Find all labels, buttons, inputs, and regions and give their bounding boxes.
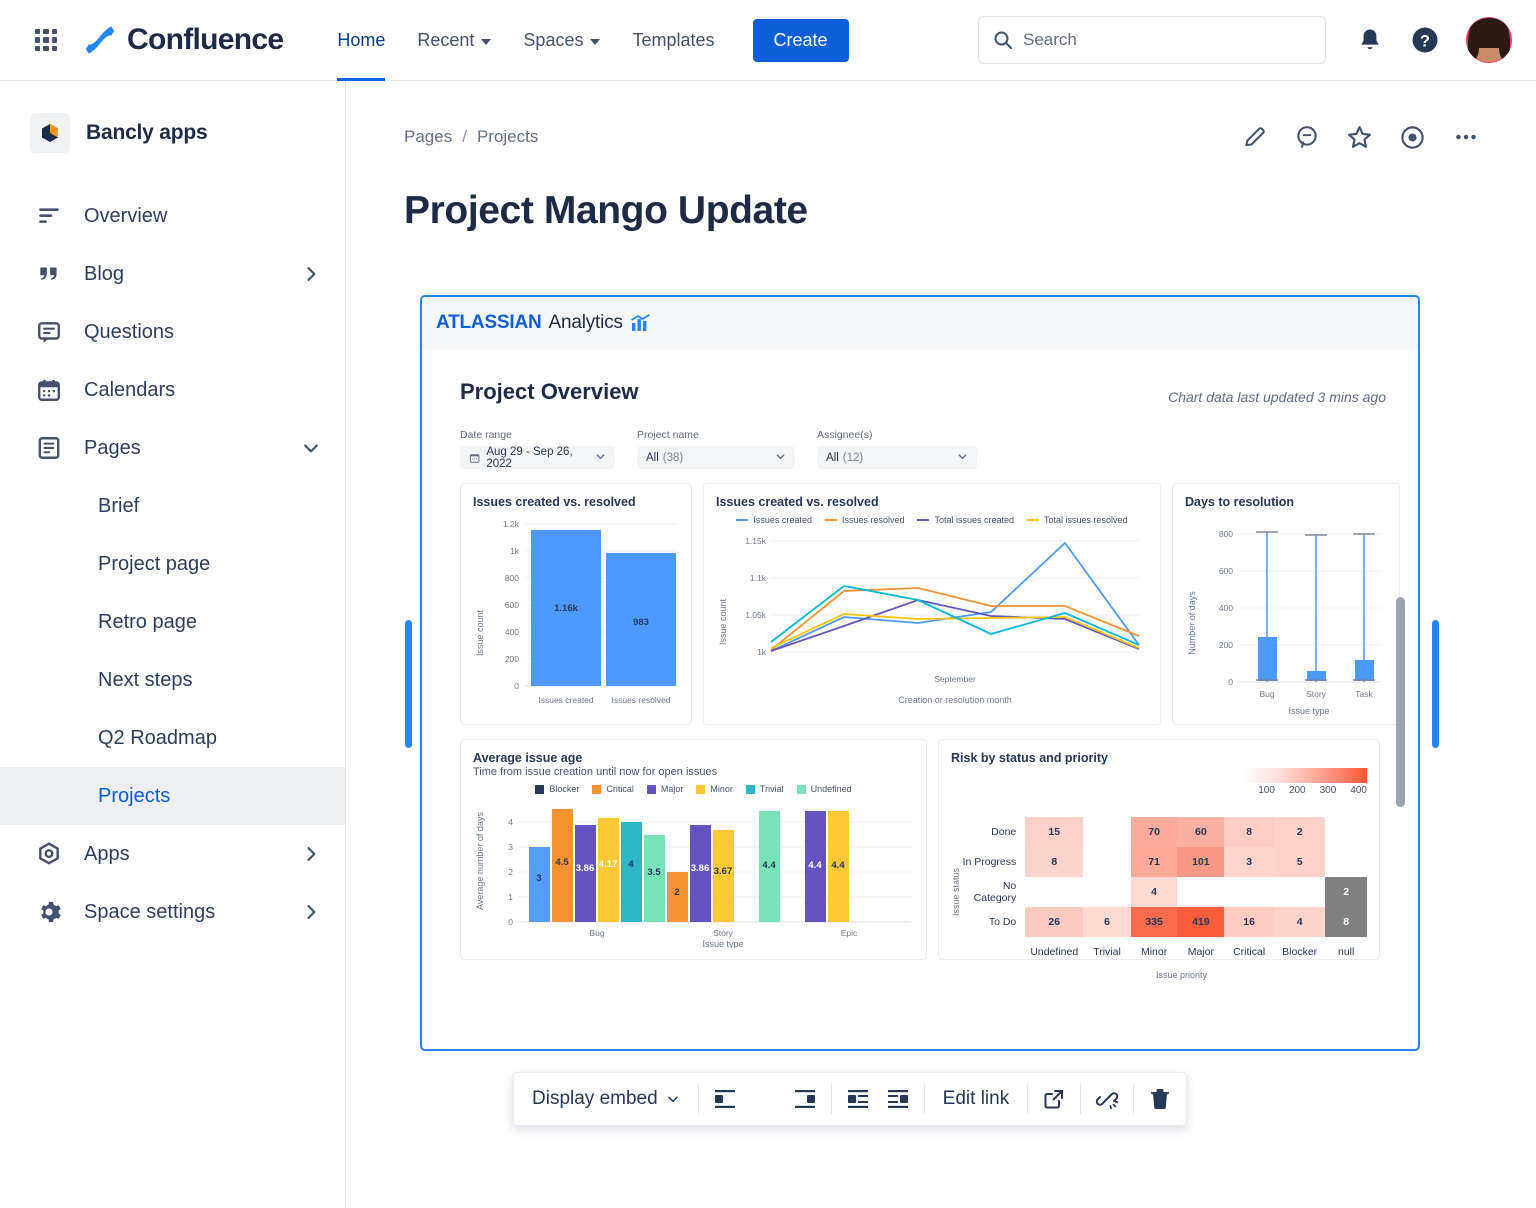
heatmap-cell[interactable] <box>1274 877 1325 907</box>
heatmap-cell-null[interactable]: 2 <box>1325 877 1367 907</box>
heatmap-cell[interactable]: 60 <box>1177 817 1224 847</box>
heatmap-cell[interactable]: 8 <box>1025 847 1083 877</box>
bar-chart-svg: Issue count 1.2k 1k 800 600 400 200 0 <box>473 513 681 723</box>
svg-text:3.86: 3.86 <box>576 863 595 874</box>
legend-tick: 200 <box>1289 785 1306 796</box>
legend-item: Minor <box>696 784 733 794</box>
legend-tick: 100 <box>1258 785 1275 796</box>
legend-label: Major <box>661 784 684 794</box>
row-label: Done <box>961 817 1025 847</box>
legend-tick: 400 <box>1350 785 1367 796</box>
heatmap-cell[interactable]: 419 <box>1177 907 1224 937</box>
sidebar-item-apps[interactable]: Apps <box>0 825 345 883</box>
chevron-down-icon <box>775 451 786 465</box>
bar-value-label: 1.16k <box>554 603 578 614</box>
nav-label: Templates <box>632 30 714 51</box>
sidebar-subitem-label: Brief <box>98 495 139 518</box>
space-name: Bancly apps <box>86 121 208 145</box>
svg-text:1k: 1k <box>757 647 767 657</box>
assignees-value: All <box>826 452 839 464</box>
y-ticks: 1.2k 1k 800 600 400 200 0 <box>503 519 520 691</box>
watch-icon[interactable] <box>1399 124 1426 151</box>
row-label: No Category <box>961 877 1025 907</box>
sidebar-item-calendars[interactable]: Calendars <box>0 361 345 419</box>
sidebar-item-space-settings[interactable]: Space settings <box>0 883 345 941</box>
chart-title: Issues created vs. resolved <box>473 495 679 509</box>
legend-item: Issues resolved <box>825 515 905 525</box>
chart-card-average-issue-age[interactable]: Average issue age Time from issue creati… <box>460 739 927 960</box>
sidebar-subitem-projects[interactable]: Projects <box>0 767 345 825</box>
row-label: In Progress <box>961 847 1025 877</box>
svg-text:4.4: 4.4 <box>831 860 845 871</box>
chevron-right-icon[interactable] <box>301 902 321 922</box>
chart-card-risk-heatmap[interactable]: Risk by status and priority 100 200 300 … <box>938 739 1380 960</box>
legend-label: Issues resolved <box>842 515 905 525</box>
heatmap-cell[interactable]: 8 <box>1224 817 1274 847</box>
more-options-icon[interactable] <box>1452 123 1480 151</box>
heatmap-cell[interactable]: 5 <box>1274 847 1325 877</box>
legend-label: Trivial <box>760 784 784 794</box>
legend-label: Issues created <box>753 515 812 525</box>
overview-icon <box>36 203 62 229</box>
chevron-right-icon[interactable] <box>301 264 321 284</box>
app-switcher-icon[interactable] <box>30 24 62 56</box>
heatmap-cell[interactable]: 70 <box>1131 817 1178 847</box>
legend-item: Total issues created <box>917 515 1014 525</box>
comment-icon <box>36 319 62 345</box>
create-button[interactable]: Create <box>753 19 849 62</box>
line-series <box>771 543 1139 651</box>
legend-label: Total issues created <box>934 515 1014 525</box>
display-embed-label: Display embed <box>532 1088 658 1110</box>
breadcrumb: Pages / Projects <box>346 81 1536 151</box>
analytics-wordmark: Analytics <box>549 312 623 334</box>
filter-assignees: Assignee(s) All (12) <box>817 429 977 469</box>
chevron-down-icon[interactable] <box>301 438 321 458</box>
x-tick-label: Issues created <box>538 695 594 705</box>
avatar[interactable] <box>1466 17 1512 63</box>
filter-label: Date range <box>460 429 615 441</box>
space-sidebar: Bancly apps Overview Blog <box>0 81 346 1208</box>
chart-title: Average issue age <box>473 751 914 765</box>
atlassian-wordmark: ATLASSIAN <box>436 312 542 334</box>
column-label: Trivial <box>1083 937 1130 967</box>
project-name-select[interactable]: All (38) <box>637 446 795 469</box>
chevron-down-icon <box>666 1092 680 1106</box>
sidebar-nav-list: Overview Blog Questions <box>0 187 345 941</box>
svg-text:800: 800 <box>1219 529 1233 539</box>
heatmap-cell[interactable] <box>1025 877 1083 907</box>
heatmap-cell[interactable]: 2 <box>1274 817 1325 847</box>
sidebar-item-pages[interactable]: Pages <box>0 419 345 477</box>
date-range-select[interactable]: Aug 29 - Sep 26, 2022 <box>460 446 615 469</box>
edit-icon[interactable] <box>1242 124 1268 150</box>
legend-item: Trivial <box>746 784 784 794</box>
column-label: Undefined <box>1025 937 1083 967</box>
heatmap-cell[interactable]: 71 <box>1131 847 1178 877</box>
page-title: Project Mango Update <box>346 151 1536 233</box>
svg-text:4.4: 4.4 <box>762 860 776 871</box>
svg-text:200: 200 <box>505 654 519 664</box>
last-updated-text: Chart data last updated 3 mins ago <box>1168 389 1386 405</box>
chevron-right-icon[interactable] <box>301 844 321 864</box>
wrap-right-button[interactable] <box>878 1079 918 1119</box>
filter-project-name: Project name All (38) <box>637 429 795 469</box>
x-tick-label: Story <box>1306 689 1327 699</box>
edit-link-button[interactable]: Edit link <box>931 1079 1022 1119</box>
confluence-brand[interactable]: Confluence <box>84 23 283 57</box>
breadcrumb-parent[interactable]: Pages <box>404 127 452 147</box>
svg-text:4: 4 <box>508 817 513 827</box>
apps-icon <box>36 841 62 867</box>
notifications-icon[interactable] <box>1356 26 1384 54</box>
align-left-button[interactable] <box>705 1079 745 1119</box>
table-row: To Do 26 6 335 419 16 4 8 <box>961 907 1367 937</box>
nav-label: Spaces <box>523 30 583 51</box>
filter-date-range: Date range Aug 29 - Sep 26, 2022 <box>460 429 615 469</box>
column-label: Minor <box>1131 937 1178 967</box>
heatmap-cell[interactable] <box>1224 877 1274 907</box>
svg-text:0: 0 <box>514 681 519 691</box>
chart-title: Days to resolution <box>1185 495 1387 509</box>
heatmap-cell[interactable]: 4 <box>1274 907 1325 937</box>
sidebar-item-overview[interactable]: Overview <box>0 187 345 245</box>
heatmap-cell[interactable] <box>1083 817 1130 847</box>
table-row: In Progress 8 71 101 3 5 <box>961 847 1367 877</box>
svg-text:3.86: 3.86 <box>691 863 710 874</box>
chart-row-bottom: Average issue age Time from issue creati… <box>432 725 1408 960</box>
chart-card-issues-line[interactable]: Issues created vs. resolved Issues creat… <box>703 483 1161 725</box>
embed-scrollbar[interactable] <box>1396 597 1405 807</box>
search-input[interactable] <box>978 16 1326 64</box>
heatmap-cell[interactable] <box>1325 847 1367 877</box>
sidebar-subitem-next-steps[interactable]: Next steps <box>0 651 345 709</box>
svg-text:?: ? <box>1420 32 1430 50</box>
analytics-chart-icon <box>630 314 652 332</box>
sidebar-item-label: Questions <box>84 321 174 344</box>
svg-text:200: 200 <box>1219 640 1233 650</box>
heatmap-gradient <box>1244 768 1367 783</box>
boxplot-svg: Number of days 800 600 400 200 0 <box>1185 513 1389 719</box>
nav-item-templates[interactable]: Templates <box>618 0 728 81</box>
heatmap-cell[interactable]: 26 <box>1025 907 1083 937</box>
column-label: Major <box>1177 937 1224 967</box>
x-tick-label: Epic <box>841 928 858 938</box>
x-tick-label: September <box>934 674 976 684</box>
svg-text:4: 4 <box>628 859 634 870</box>
heatmap-y-axis-label: Issue status <box>951 827 961 957</box>
gridlines <box>1237 534 1381 645</box>
pages-icon <box>36 435 62 461</box>
filter-bar: Date range Aug 29 - Sep 26, 2022 Project… <box>432 405 1408 469</box>
legend-item: Critical <box>592 784 634 794</box>
line-chart-svg: Issue count 1.15k 1.1k 1.05k 1k <box>716 527 1150 709</box>
chart-card-issues-bar[interactable]: Issues created vs. resolved Issue count … <box>460 483 692 725</box>
calendar-icon <box>469 452 480 464</box>
heatmap-cell[interactable]: 335 <box>1131 907 1178 937</box>
filter-label: Project name <box>637 429 795 441</box>
heatmap-cell-null[interactable]: 8 <box>1325 907 1367 937</box>
sidebar-subitem-label: Projects <box>98 785 170 808</box>
legend-label: Undefined <box>811 784 852 794</box>
star-icon[interactable] <box>1346 124 1373 151</box>
breadcrumb-separator: / <box>462 127 467 147</box>
bar-chart-legend: Blocker Critical Major Minor Trivial Und… <box>473 784 914 794</box>
svg-text:0: 0 <box>508 917 513 927</box>
embed-toolbar: Display embed Edit link <box>513 1072 1187 1126</box>
legend-item: Total issues resolved <box>1027 515 1128 525</box>
heatmap-cell[interactable] <box>1325 817 1367 847</box>
sidebar-subitem-label: Project page <box>98 553 210 576</box>
analytics-embed[interactable]: ATLASSIAN Analytics Project Overview Cha… <box>420 295 1420 1051</box>
bar-value-label: 983 <box>633 617 649 628</box>
y-axis-label: Issue count <box>718 598 728 645</box>
x-axis-label: Issue type <box>1288 706 1329 716</box>
toolbar-divider <box>698 1084 699 1114</box>
svg-text:600: 600 <box>505 600 519 610</box>
heatmap-cell[interactable]: 101 <box>1177 847 1224 877</box>
chevron-down-icon <box>595 451 606 465</box>
x-axis-label: Creation or resolution month <box>898 695 1012 705</box>
x-tick-label: Task <box>1355 689 1373 699</box>
svg-text:1k: 1k <box>510 546 520 556</box>
legend-label: Minor <box>710 784 733 794</box>
sidebar-item-label: Apps <box>84 843 130 866</box>
chart-card-days-resolution[interactable]: Days to resolution Number of days 800 60… <box>1172 483 1400 725</box>
heatmap-cell[interactable] <box>1177 877 1224 907</box>
space-header[interactable]: Bancly apps <box>0 105 345 161</box>
filter-label: Assignee(s) <box>817 429 977 441</box>
sidebar-item-label: Space settings <box>84 901 215 924</box>
svg-text:2: 2 <box>674 887 679 898</box>
y-axis-label: Number of days <box>1187 591 1197 655</box>
dashboard-title: Project Overview <box>460 379 639 405</box>
confluence-logo-icon <box>84 25 116 55</box>
heatmap-cell[interactable] <box>1083 877 1130 907</box>
legend-item: Major <box>647 784 684 794</box>
nav-item-spaces[interactable]: Spaces <box>509 0 614 81</box>
column-label: null <box>1325 937 1367 967</box>
unlink-icon[interactable] <box>1087 1079 1127 1119</box>
table-row: Done 15 70 60 8 2 <box>961 817 1367 847</box>
sidebar-item-label: Blog <box>84 263 124 286</box>
heatmap-cell[interactable]: 3 <box>1224 847 1274 877</box>
sidebar-subitem-label: Retro page <box>98 611 197 634</box>
help-icon[interactable]: ? <box>1410 25 1440 55</box>
align-center-button[interactable] <box>745 1079 785 1119</box>
line-chart-legend: Issues created Issues resolved Total iss… <box>716 515 1148 525</box>
table-header-row: Undefined Trivial Minor Major Critical B… <box>961 937 1367 967</box>
svg-text:3.5: 3.5 <box>647 867 661 878</box>
chart-title: Risk by status and priority <box>951 751 1367 765</box>
sidebar-item-label: Calendars <box>84 379 175 402</box>
space-avatar-icon <box>30 113 70 153</box>
legend-item: Issues created <box>736 515 812 525</box>
legend-label: Critical <box>606 784 634 794</box>
sidebar-subitem-q2-roadmap[interactable]: Q2 Roadmap <box>0 709 345 767</box>
svg-text:1.1k: 1.1k <box>750 573 767 583</box>
x-tick-label: Story <box>713 928 734 938</box>
date-range-value: Aug 29 - Sep 26, 2022 <box>486 446 595 470</box>
group-epic: 4.4 4.4 <box>805 811 849 922</box>
nav-label: Recent <box>417 30 474 51</box>
chart-row-top: Issues created vs. resolved Issue count … <box>432 469 1408 725</box>
group-story: 2 3.86 3.67 4.4 <box>667 811 780 922</box>
table-row: No Category 4 2 <box>961 877 1367 907</box>
column-label: Critical <box>1224 937 1274 967</box>
svg-text:4.17: 4.17 <box>599 859 618 870</box>
breadcrumb-current[interactable]: Projects <box>477 127 538 147</box>
chevron-down-icon <box>957 451 968 465</box>
x-tick-label: Bug <box>1259 689 1274 699</box>
svg-text:400: 400 <box>505 627 519 637</box>
column-label: Blocker <box>1274 937 1325 967</box>
resize-handle-left[interactable] <box>405 620 412 748</box>
sidebar-subitem-project-page[interactable]: Project page <box>0 535 345 593</box>
heatmap-cell[interactable]: 4 <box>1131 877 1178 907</box>
brand-name: Confluence <box>127 23 283 57</box>
nav-item-recent[interactable]: Recent <box>403 0 505 81</box>
legend-tick: 300 <box>1320 785 1337 796</box>
display-embed-dropdown[interactable]: Display embed <box>520 1079 692 1119</box>
y-axis-label: Issue count <box>475 609 485 656</box>
quote-icon <box>36 261 62 287</box>
nav-label: Home <box>337 30 385 51</box>
wrap-left-button[interactable] <box>838 1079 878 1119</box>
heatmap-body: Issue status Done 15 70 60 8 2 <box>951 817 1367 967</box>
heatmap-cell[interactable] <box>1083 847 1130 877</box>
top-icons: ? <box>1356 17 1512 63</box>
svg-text:3.67: 3.67 <box>714 866 733 877</box>
heatmap-table: Done 15 70 60 8 2 In Progress 8 <box>961 817 1367 967</box>
heatmap-legend: 100 200 300 400 <box>1244 768 1367 796</box>
legend-item: Blocker <box>535 784 579 794</box>
svg-text:800: 800 <box>505 573 519 583</box>
toolbar-divider <box>1133 1084 1134 1114</box>
chevron-down-icon <box>481 39 491 45</box>
heatmap-cell[interactable]: 6 <box>1083 907 1130 937</box>
sidebar-subitem-label: Next steps <box>98 669 192 692</box>
sidebar-item-blog[interactable]: Blog <box>0 245 345 303</box>
svg-text:1.15k: 1.15k <box>745 536 767 546</box>
analytics-header: ATLASSIAN Analytics <box>422 297 1418 349</box>
sidebar-item-questions[interactable]: Questions <box>0 303 345 361</box>
svg-text:1: 1 <box>508 892 513 902</box>
box-bug <box>1256 532 1278 682</box>
svg-text:4.5: 4.5 <box>555 857 569 868</box>
svg-text:400: 400 <box>1219 603 1233 613</box>
toolbar-divider <box>1027 1084 1028 1114</box>
series-total-issues-resolved <box>771 614 1139 648</box>
heatmap-cell[interactable]: 15 <box>1025 817 1083 847</box>
svg-text:1.05k: 1.05k <box>745 610 767 620</box>
chart-subtitle: Time from issue creation until now for o… <box>473 766 914 778</box>
svg-text:3: 3 <box>536 873 541 884</box>
toolbar-divider <box>924 1084 925 1114</box>
group-bug: 3 4.5 3.86 4.17 4 3.5 <box>529 809 665 922</box>
legend-label: Total issues resolved <box>1044 515 1128 525</box>
nav-item-home[interactable]: Home <box>323 0 399 81</box>
dashboard-header: Project Overview Chart data last updated… <box>432 349 1408 405</box>
nav-items: Home Recent Spaces Templates Create <box>323 0 848 81</box>
top-navigation: Confluence Home Recent Spaces Templates … <box>0 0 1536 81</box>
sidebar-subitem-label: Q2 Roadmap <box>98 727 217 750</box>
project-name-count: (38) <box>663 452 683 464</box>
svg-text:1.2k: 1.2k <box>503 519 520 529</box>
x-tick-label: Issues resolved <box>611 695 670 705</box>
chevron-down-icon <box>590 39 600 45</box>
chart-title: Issues created vs. resolved <box>716 495 1148 509</box>
heatmap-cell[interactable]: 16 <box>1224 907 1274 937</box>
sidebar-subitem-retro-page[interactable]: Retro page <box>0 593 345 651</box>
project-name-value: All <box>646 452 659 464</box>
svg-text:4.4: 4.4 <box>808 860 822 871</box>
search-container <box>978 16 1326 64</box>
toolbar-divider <box>1080 1084 1081 1114</box>
heatmap-legend-ticks: 100 200 300 400 <box>1244 785 1367 796</box>
svg-text:2: 2 <box>508 867 513 877</box>
y-axis-label: Average number of days <box>475 812 485 910</box>
sidebar-item-label: Pages <box>84 437 141 460</box>
svg-text:600: 600 <box>1219 566 1233 576</box>
page-actions <box>1242 123 1480 151</box>
delete-icon[interactable] <box>1140 1079 1180 1119</box>
legend-label: Blocker <box>549 784 579 794</box>
resize-handle-right[interactable] <box>1432 620 1439 748</box>
grouped-bar-svg: Average number of days 4 3 2 1 0 <box>473 796 916 948</box>
comment-icon[interactable] <box>1294 124 1320 150</box>
x-axis-label: Issue type <box>702 939 743 948</box>
svg-text:3: 3 <box>508 842 513 852</box>
x-tick-label: Bug <box>589 928 604 938</box>
calendar-icon <box>36 377 62 403</box>
heatmap-x-axis-label: Issue priority <box>951 970 1367 980</box>
align-right-button[interactable] <box>785 1079 825 1119</box>
sidebar-subitem-brief[interactable]: Brief <box>0 477 345 535</box>
legend-item: Undefined <box>797 784 852 794</box>
assignees-select[interactable]: All (12) <box>817 446 977 469</box>
open-in-new-icon[interactable] <box>1034 1079 1074 1119</box>
sidebar-item-label: Overview <box>84 205 167 228</box>
assignees-count: (12) <box>843 452 863 464</box>
svg-text:0: 0 <box>1228 677 1233 687</box>
dashboard-body: Project Overview Chart data last updated… <box>432 349 1408 997</box>
gear-icon <box>36 899 62 925</box>
row-label: To Do <box>961 907 1025 937</box>
toolbar-divider <box>831 1084 832 1114</box>
